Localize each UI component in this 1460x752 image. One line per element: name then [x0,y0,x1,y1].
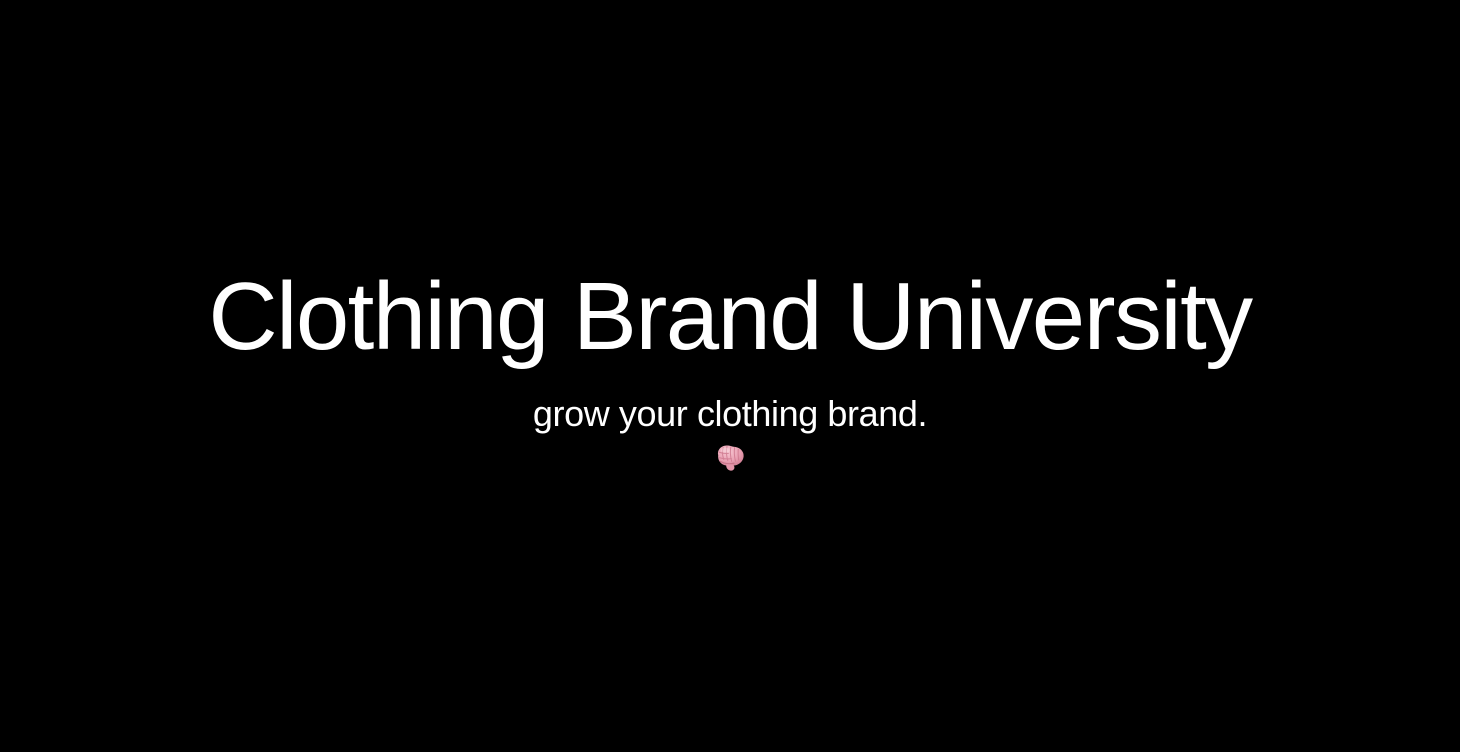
brain-emoji [0,441,1460,475]
page-title: Clothing Brand University [0,269,1460,365]
hero-page: Clothing Brand University grow your clot… [0,0,1460,752]
page-tagline: grow your clothing brand. [0,394,1460,434]
hero-content-stack: Clothing Brand University grow your clot… [0,0,1460,752]
